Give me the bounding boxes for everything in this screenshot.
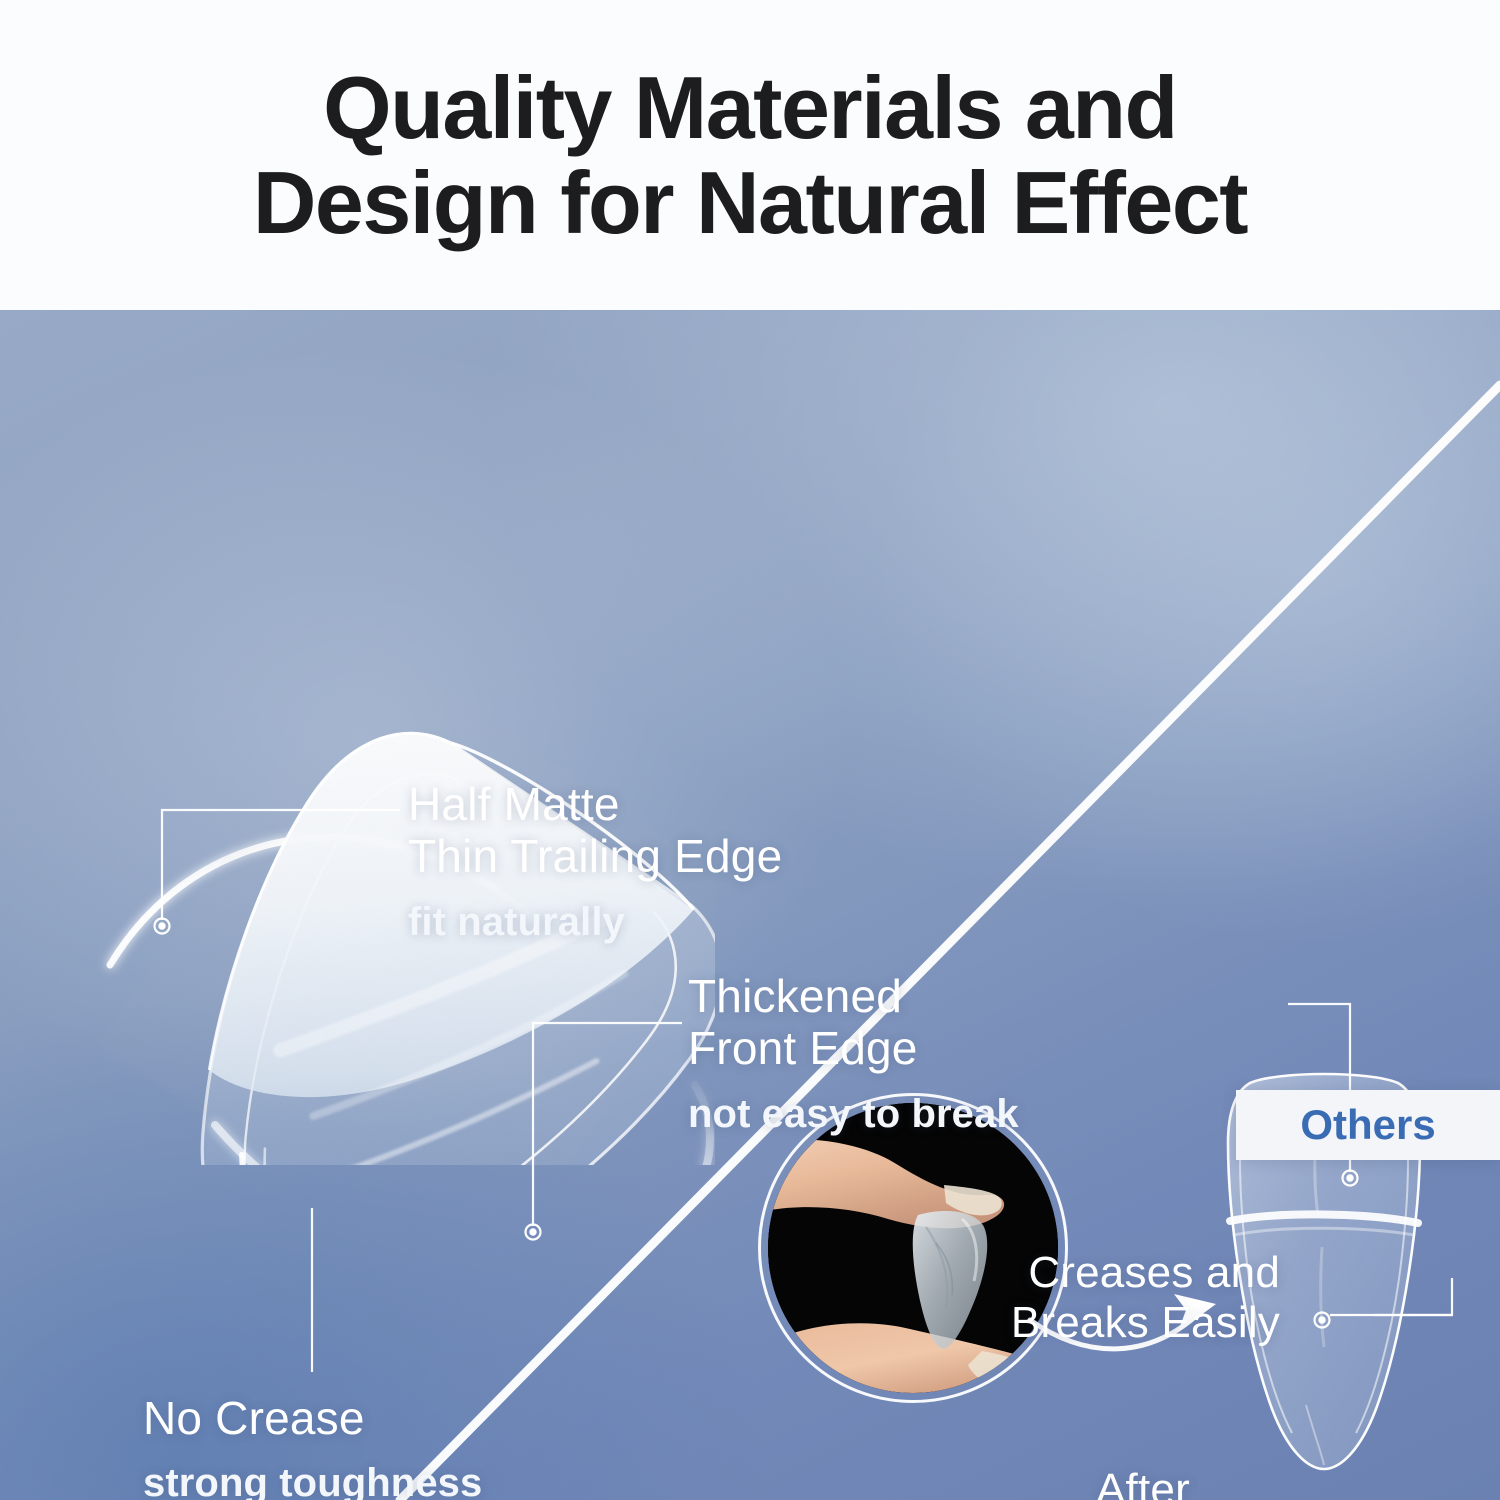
header-banner: Quality Materials and Design for Natural… (0, 0, 1500, 310)
annotation-creases-breaks-easily: Creases and Breaks Easily (1010, 1248, 1280, 1348)
competitor-badge-label: Others (1300, 1101, 1435, 1149)
comparison-panel: Half Matte Thin Trailing Edge fit natura… (0, 310, 1500, 1500)
annotation-half-matte: Half Matte Thin Trailing Edge fit natura… (408, 778, 782, 946)
annotation-thickened-subtitle: not easy to break (688, 1091, 1019, 1138)
page-title: Quality Materials and Design for Natural… (253, 60, 1247, 250)
annotation-no-crease-title: No Crease (143, 1392, 482, 1444)
page-title-line-1: Quality Materials and (323, 58, 1177, 157)
leader-abs (1374, 1278, 1452, 1315)
annotation-no-crease-subtitle: strong toughness (143, 1460, 482, 1500)
annotation-after-bend-title: After Bend (1096, 1465, 1200, 1500)
annotation-thickened-front-edge: Thickened Front Edge not easy to break (688, 970, 1019, 1138)
leader-thickened-front-edge (533, 1023, 682, 1226)
infographic-page: Quality Materials and Design for Natural… (0, 0, 1500, 1500)
annotation-half-matte-title: Half Matte Thin Trailing Edge (408, 778, 782, 883)
annotation-no-crease: No Crease strong toughness (143, 1392, 482, 1500)
annotation-creases-title: Creases and Breaks Easily (1010, 1248, 1280, 1348)
page-title-line-2: Design for Natural Effect (253, 155, 1247, 250)
competitor-badge-others: Others (1236, 1090, 1500, 1160)
annotation-half-matte-subtitle: fit naturally (408, 899, 782, 946)
leader-half-matte (162, 810, 400, 920)
annotation-after-bend: After Bend (1096, 1465, 1200, 1500)
annotation-thickened-title: Thickened Front Edge (688, 970, 1019, 1075)
